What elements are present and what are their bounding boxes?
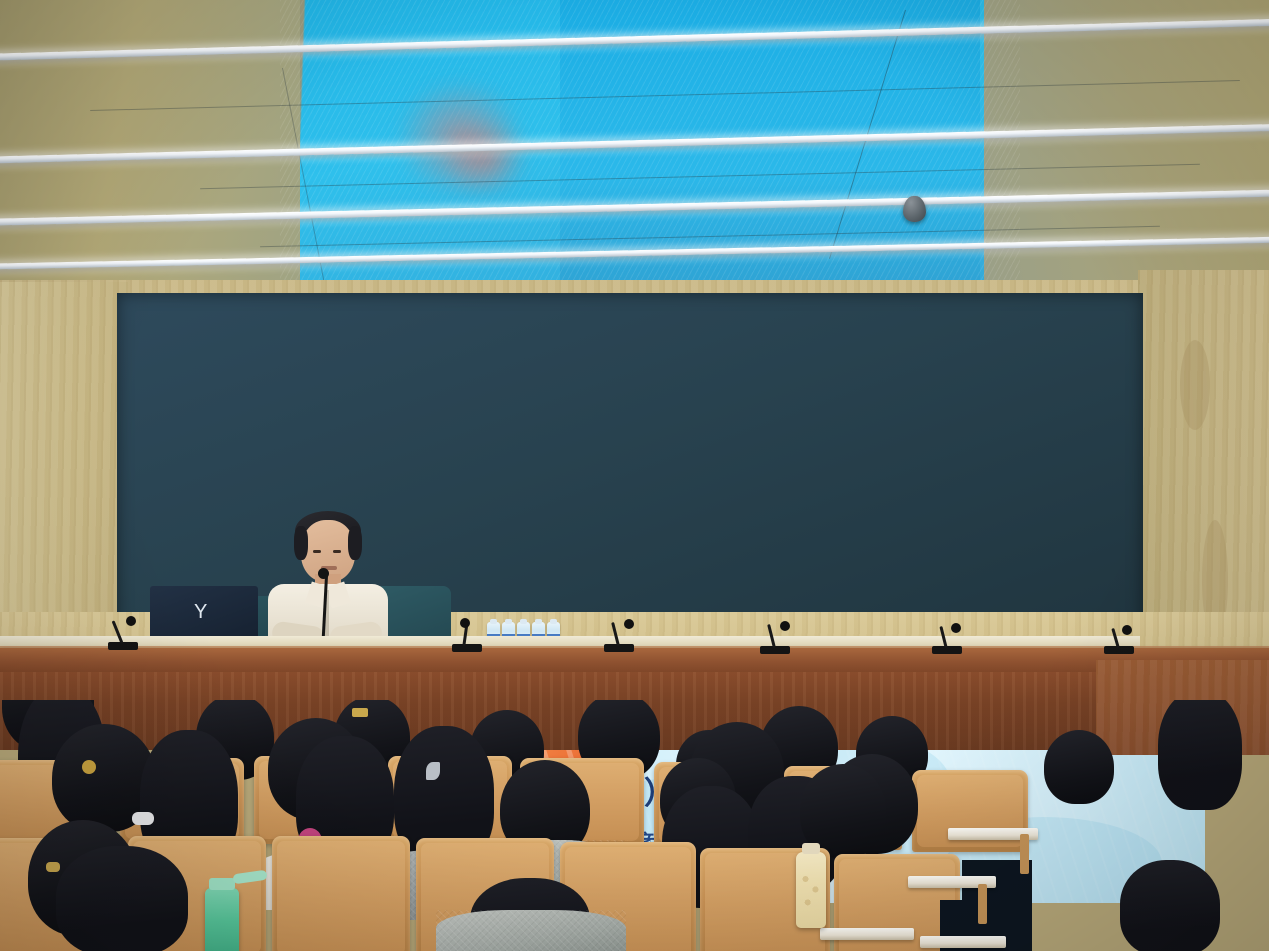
- audience-member: [1120, 860, 1220, 951]
- hair-clip: [426, 762, 440, 780]
- ceiling-reflection-glow-2: [440, 118, 530, 198]
- bottle-label: [800, 866, 822, 918]
- auditorium-seat: [272, 836, 410, 951]
- tray-arm: [978, 884, 987, 924]
- water-bottle-icon: [796, 852, 826, 928]
- hair-clip: [82, 760, 96, 774]
- bottle-cap: [209, 878, 235, 890]
- fold-down-tray: [820, 928, 914, 940]
- laptop-logo: Y: [194, 602, 207, 622]
- audience-cardigan: [436, 910, 626, 951]
- hair-clip: [352, 708, 368, 717]
- ceiling-speaker-icon: [903, 196, 926, 222]
- ceiling: [0, 0, 1269, 292]
- lecture-hall-photo: 心有多大，世界就有多大 学生出国（境）项目及政策介绍 王彦军 胡潇淼 2023年…: [0, 0, 1269, 951]
- right-wall-panel: [1138, 270, 1269, 670]
- hair-clip: [132, 812, 154, 825]
- audience-member: [56, 846, 188, 951]
- audience-member: [1158, 700, 1242, 810]
- presenter: [264, 506, 392, 652]
- bottle-cap: [802, 843, 820, 854]
- audience-area: [0, 700, 1269, 951]
- tray-arm: [1020, 834, 1029, 874]
- ceiling-right-soffit: [984, 0, 1269, 292]
- fold-down-tray: [920, 936, 1006, 948]
- audience-member: [1044, 730, 1114, 804]
- water-bottle-icon: [205, 888, 239, 951]
- hair-clip: [46, 862, 60, 872]
- ceiling-left-soffit: [0, 0, 300, 292]
- presenter-hair-side: [294, 526, 308, 560]
- desk-top: [0, 648, 1269, 674]
- presenter-hair-side: [348, 526, 362, 560]
- microphone-head: [318, 568, 329, 579]
